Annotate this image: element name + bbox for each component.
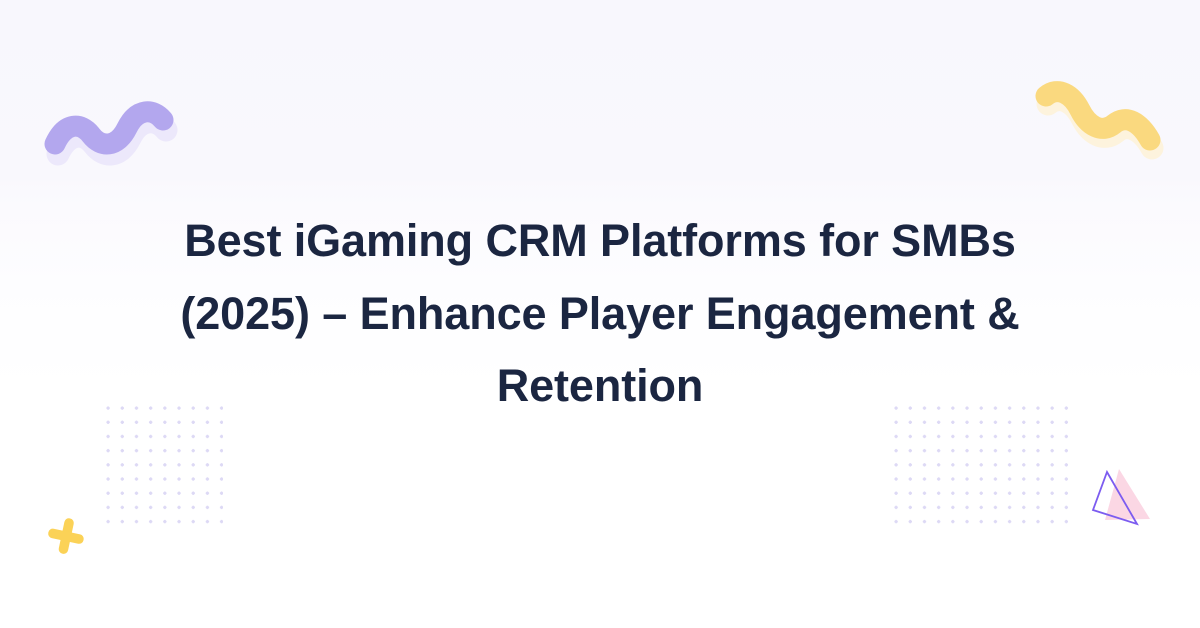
social-share-card: Best iGaming CRM Platforms for SMBs (202… [0, 0, 1200, 628]
title-container: Best iGaming CRM Platforms for SMBs (202… [0, 0, 1200, 628]
page-title: Best iGaming CRM Platforms for SMBs (202… [120, 205, 1080, 424]
